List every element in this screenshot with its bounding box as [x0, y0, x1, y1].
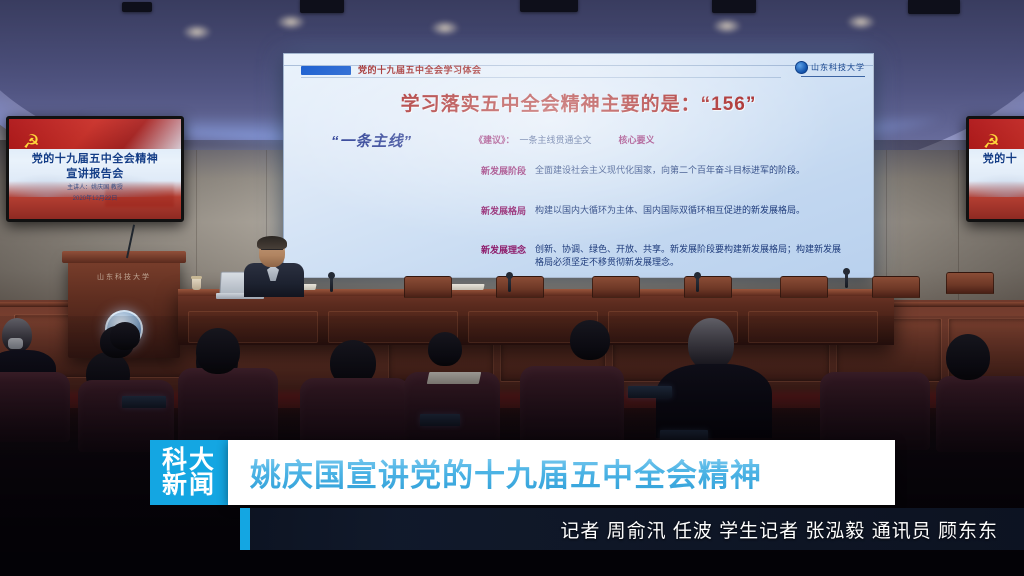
table-chair — [592, 276, 640, 298]
audience-laptop-icon — [420, 414, 460, 426]
table-chair — [404, 276, 452, 298]
audience-head — [428, 332, 462, 366]
slide-row-label: 新发展理念 — [470, 243, 526, 269]
face-mask-icon — [8, 338, 23, 349]
audience-laptop-icon — [122, 396, 166, 408]
audience-head — [946, 334, 990, 380]
slide-row-2: 新发展理念 创新、协调、绿色、开放、共享。新发展阶段要构建新发展格局；构建新发展… — [470, 243, 862, 269]
side-screen-right-title-line1: 党的十 — [983, 150, 1024, 166]
slide-row-body: 构建以国内大循环为主体、国内国际双循环相互促进的新发展格局。 — [535, 204, 835, 217]
projection-screen: 党的十九届五中全会学习体会 山东科技大学 学习落实五中全会精神主要的是：“156… — [283, 53, 874, 278]
audience-seat — [0, 372, 70, 442]
audience-papers — [427, 372, 482, 384]
audience-head — [570, 320, 610, 360]
slide-row-body: 创新、协调、绿色、开放、共享。新发展阶段要构建新发展格局；构建新发展格局必须坚定… — [535, 243, 847, 269]
side-screen-right-content: ☭ 党的十 — [969, 119, 1024, 219]
slide-row-0: 新发展阶段 全面建设社会主义现代化国家，向第二个百年奋斗目标进军的阶段。 — [470, 164, 852, 177]
slide-lead-note-label: 《建议》： — [474, 133, 515, 146]
audience-laptop-icon — [628, 386, 672, 398]
table-chair — [496, 276, 544, 298]
slide-logo-underline — [801, 76, 865, 77]
ceiling-panel — [122, 2, 152, 12]
side-screen-left-content: ☭ 党的十九届五中全会精神 宣讲报告会 主讲人：姚庆国 教授 2020年12月2… — [9, 119, 181, 219]
slide-logo-text: 山东科技大学 — [811, 62, 865, 73]
broadcast-frame: ☭ 党的十九届五中全会精神 宣讲报告会 主讲人：姚庆国 教授 2020年12月2… — [0, 0, 1024, 576]
audience-seat — [520, 366, 624, 446]
slide-header-text: 党的十九届五中全会学习体会 — [358, 63, 482, 76]
headline-text: 姚庆国宣讲党的十九届五中全会精神 — [250, 450, 762, 495]
table-chair — [872, 276, 920, 298]
news-badge-line1: 科大 — [162, 448, 216, 473]
mountain-backdrop — [969, 163, 1024, 197]
ceiling-panel — [712, 0, 756, 13]
side-screen-left: ☭ 党的十九届五中全会精神 宣讲报告会 主讲人：姚庆国 教授 2020年12月2… — [6, 116, 184, 222]
credits-bar: 记者 周俞汛 任波 学生记者 张泓毅 通讯员 顾东东 — [240, 508, 1024, 550]
news-program-badge: 科大 新闻 — [150, 440, 228, 505]
audience-seat — [820, 372, 930, 450]
slide-lead-note-row: 《建议》： 一条主线贯通全文 核心要义 — [474, 133, 655, 147]
table-chair — [780, 276, 828, 298]
slide-row-body: 全面建设社会主义现代化国家，向第二个百年奋斗目标进军的阶段。 — [535, 164, 835, 177]
ceiling-downlight — [712, 18, 742, 34]
table-chair — [684, 276, 732, 298]
side-screen-left-date: 2020年12月22日 — [16, 193, 174, 202]
headline-bar: 姚庆国宣讲党的十九届五中全会精神 — [228, 440, 895, 505]
ceiling-downlight — [276, 14, 306, 30]
ceiling-panel — [908, 0, 960, 14]
microphone-icon — [845, 272, 848, 288]
seated-presenter — [243, 238, 307, 294]
audience-shoulders — [656, 364, 772, 438]
audience-seat — [936, 376, 1024, 452]
slide-row-label: 新发展格局 — [470, 204, 526, 217]
slide-row-label: 新发展阶段 — [470, 164, 526, 177]
audience-seat — [178, 368, 278, 448]
news-badge-line2: 新闻 — [162, 473, 216, 498]
lower-third-graphic: 科大 新闻 姚庆国宣讲党的十九届五中全会精神 — [150, 440, 895, 505]
credits-accent-block — [240, 508, 250, 550]
teacup-lid — [191, 276, 202, 279]
side-screen-left-title-line2: 宣讲报告会 — [16, 165, 174, 181]
slide-lead-note-body: 一条主线贯通全文 — [520, 134, 592, 147]
audience-head — [196, 328, 240, 374]
microphone-icon — [330, 276, 333, 292]
microphone-icon — [696, 276, 699, 292]
audience-head — [688, 318, 734, 370]
teacup-icon — [192, 278, 201, 290]
table-front-panel — [748, 311, 878, 343]
presenter-hair — [257, 236, 287, 250]
audience-head — [110, 322, 140, 350]
ceiling-downlight — [430, 20, 460, 36]
ceiling-panel — [520, 0, 578, 12]
table-chair — [946, 272, 994, 294]
presenter-glasses-icon — [261, 249, 283, 255]
credits-text: 记者 周俞汛 任波 学生记者 张泓毅 通讯员 顾东东 — [560, 516, 998, 543]
side-screen-left-speaker: 主讲人：姚庆国 教授 — [16, 182, 174, 191]
slide-lead-note-key: 核心要义 — [619, 133, 655, 146]
microphone-icon — [508, 276, 511, 292]
slide-accent-tab — [301, 66, 351, 75]
side-screen-left-title-line1: 党的十九届五中全会精神 — [16, 150, 174, 166]
side-screen-right: ☭ 党的十 — [966, 116, 1024, 222]
lectern-top — [62, 251, 186, 263]
ceiling-downlight — [846, 14, 876, 30]
ceiling-downlight — [182, 24, 212, 40]
slide-university-logo: 山东科技大学 — [795, 61, 865, 74]
university-seal-icon — [795, 61, 808, 74]
slide-title: 学习落实五中全会精神主要的是：“156” — [284, 89, 873, 116]
lectern-university-text: 山东科技大学 — [68, 272, 180, 282]
slide-row-1: 新发展格局 构建以国内大循环为主体、国内国际双循环相互促进的新发展格局。 — [470, 204, 852, 217]
ceiling-panel — [300, 0, 344, 13]
slide-lead-phrase: “一条主线” — [331, 130, 412, 151]
slide-header-rule — [301, 77, 781, 78]
